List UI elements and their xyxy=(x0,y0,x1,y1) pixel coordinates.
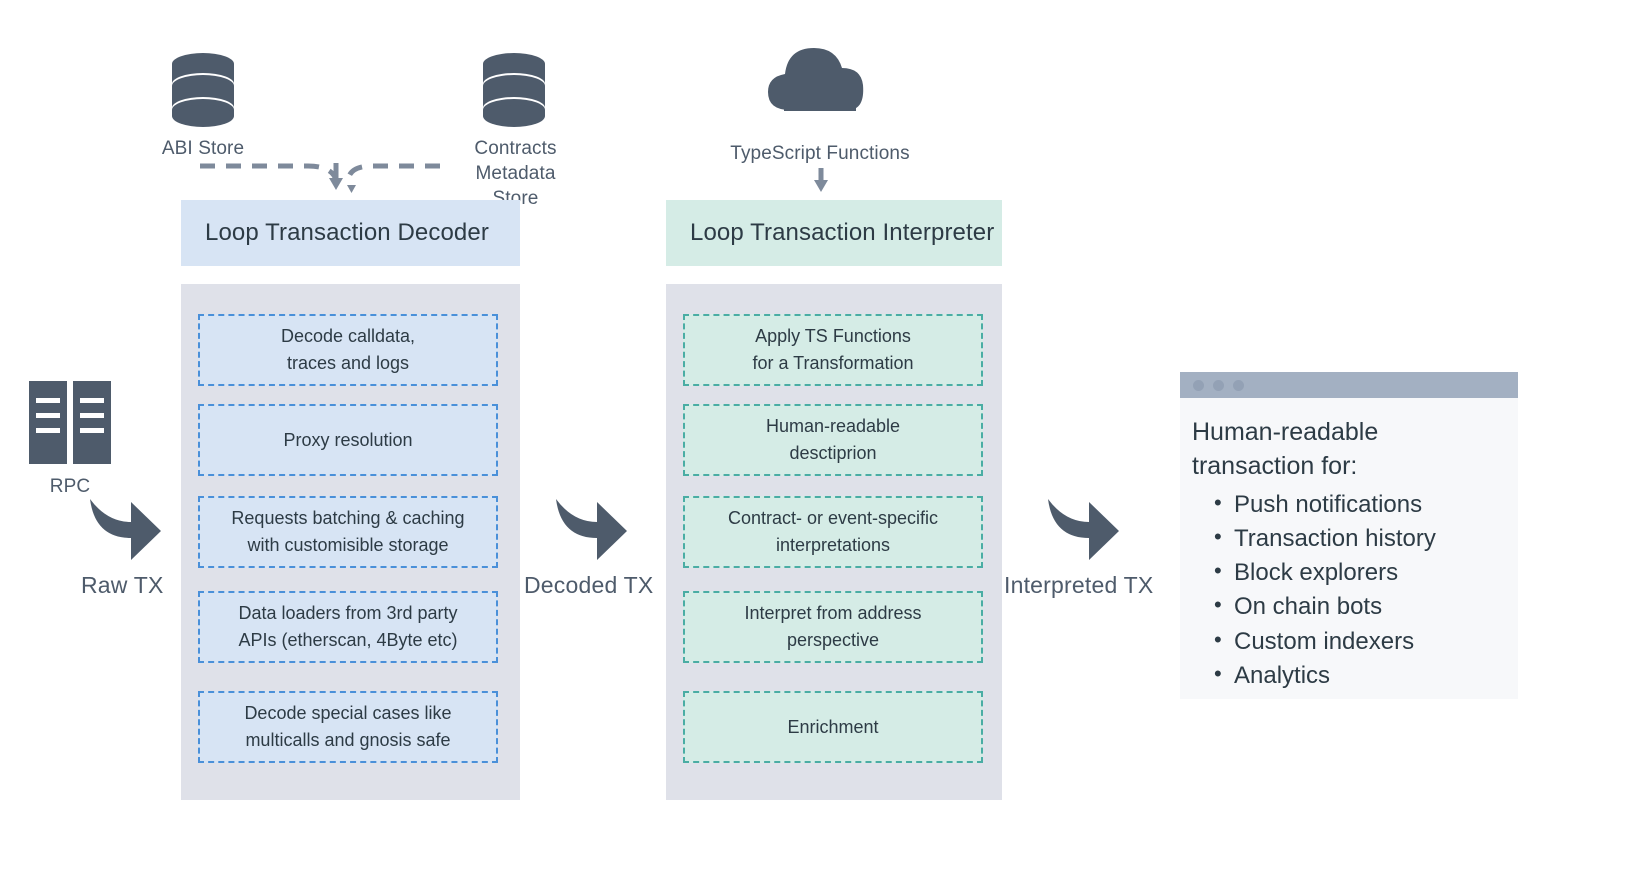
window-maximize-dot[interactable] xyxy=(1233,380,1244,391)
connector-arrowheads xyxy=(320,163,370,195)
list-item: Custom indexers xyxy=(1192,625,1498,659)
flow-arrow-interpreted-icon xyxy=(1043,494,1123,572)
column-title-interpreter: Loop Transaction Interpreter xyxy=(690,219,994,247)
rpc-node xyxy=(29,381,111,469)
column-header-interpreter: Loop Transaction Interpreter xyxy=(666,200,1002,266)
connector-typescript-arrow xyxy=(810,168,832,194)
flow-label-interpreted-tx: Interpreted TX xyxy=(1004,572,1153,599)
feature-box[interactable]: Enrichment xyxy=(683,691,983,763)
feature-box[interactable]: Requests batching & caching with customi… xyxy=(198,496,498,568)
cloud-icon xyxy=(766,40,876,112)
column-title-decoder: Loop Transaction Decoder xyxy=(205,219,489,247)
source-contracts-metadata-store xyxy=(481,52,547,133)
source-typescript-functions xyxy=(766,40,876,117)
output-lead-text: Human-readable transaction for: xyxy=(1192,416,1498,484)
output-browser-window: Human-readable transaction for: Push not… xyxy=(1180,372,1518,699)
feature-box[interactable]: Interpret from address perspective xyxy=(683,591,983,663)
browser-titlebar xyxy=(1180,372,1518,398)
feature-box[interactable]: Human-readable desctiprion xyxy=(683,404,983,476)
server-icon xyxy=(29,381,111,464)
feature-box[interactable]: Apply TS Functions for a Transformation xyxy=(683,314,983,386)
window-close-dot[interactable] xyxy=(1193,380,1204,391)
database-icon xyxy=(170,52,236,128)
flow-label-decoded-tx: Decoded TX xyxy=(524,572,653,599)
column-body-decoder: Decode calldata, traces and logs Proxy r… xyxy=(181,284,520,800)
feature-box[interactable]: Proxy resolution xyxy=(198,404,498,476)
feature-box[interactable]: Data loaders from 3rd party APIs (ethers… xyxy=(198,591,498,663)
list-item: On chain bots xyxy=(1192,590,1498,624)
feature-box[interactable]: Decode special cases like multicalls and… xyxy=(198,691,498,763)
connector-abi-store xyxy=(200,166,336,180)
flow-arrow-raw-icon xyxy=(85,494,165,572)
list-item: Transaction history xyxy=(1192,522,1498,556)
feature-box[interactable]: Contract- or event-specific interpretati… xyxy=(683,496,983,568)
column-header-decoder: Loop Transaction Decoder xyxy=(181,200,520,266)
flow-label-raw-tx: Raw TX xyxy=(81,572,164,599)
database-icon xyxy=(481,52,547,128)
list-item: Block explorers xyxy=(1192,556,1498,590)
column-body-interpreter: Apply TS Functions for a Transformation … xyxy=(666,284,1002,800)
output-list: Push notifications Transaction history B… xyxy=(1192,488,1498,694)
feature-box[interactable]: Decode calldata, traces and logs xyxy=(198,314,498,386)
browser-body: Human-readable transaction for: Push not… xyxy=(1180,398,1518,693)
window-minimize-dot[interactable] xyxy=(1213,380,1224,391)
source-label-typescript-functions: TypeScript Functions xyxy=(700,141,940,166)
list-item: Push notifications xyxy=(1192,488,1498,522)
flow-arrow-decoded-icon xyxy=(551,494,631,572)
list-item: Analytics xyxy=(1192,659,1498,693)
source-abi-store xyxy=(170,52,236,133)
